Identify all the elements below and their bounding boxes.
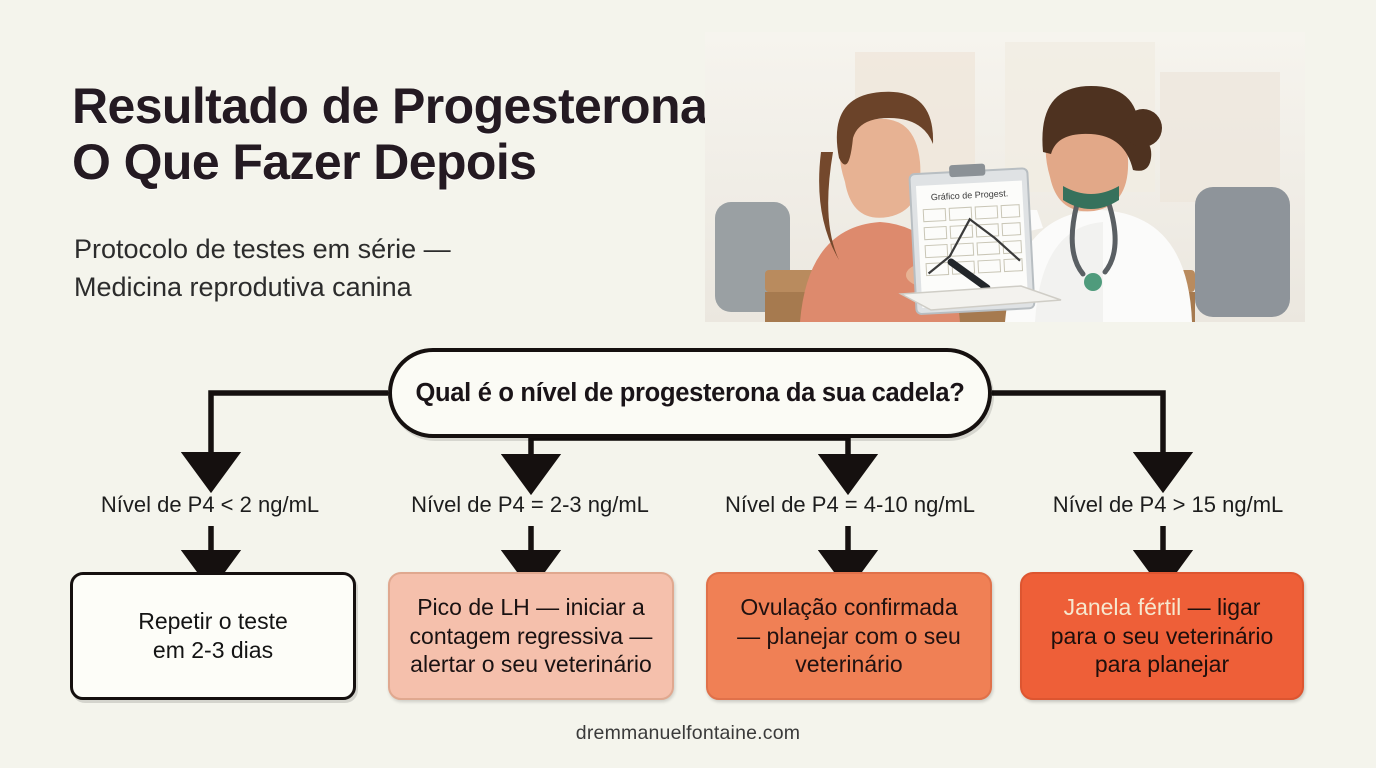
result-3-line-2: para o seu veterinário <box>1051 623 1273 649</box>
result-box-0-text: Repetir o teste em 2-3 dias <box>138 607 288 664</box>
branch-label-3: Nível de P4 > 15 ng/mL <box>1018 492 1318 518</box>
subtitle-line-2: Medicina reprodutiva canina <box>74 268 694 306</box>
result-0-line-1: Repetir o teste <box>138 608 288 634</box>
result-box-3-text: Janela fértil — ligar para o seu veterin… <box>1051 593 1273 679</box>
result-3-line-3: para planejar <box>1095 651 1229 677</box>
consultation-illustration: Gráfico de Progest. <box>705 32 1305 322</box>
result-1-line-1: Pico de LH — iniciar a <box>417 594 645 620</box>
infographic-page: Resultado de Progesterona: O Que Fazer D… <box>0 0 1376 768</box>
result-2-line-2: — planejar com o seu <box>737 623 961 649</box>
result-box-2[interactable]: Ovulação confirmada — planejar com o seu… <box>706 572 992 700</box>
result-box-1[interactable]: Pico de LH — iniciar a contagem regressi… <box>388 572 674 700</box>
result-1-line-3: alertar o seu veterinário <box>410 651 652 677</box>
subtitle-line-1: Protocolo de testes em série — <box>74 234 451 264</box>
decision-question-box[interactable]: Qual é o nível de progesterona da sua ca… <box>388 348 992 438</box>
result-box-3[interactable]: Janela fértil — ligar para o seu veterin… <box>1020 572 1304 700</box>
branch-label-1: Nível de P4 = 2-3 ng/mL <box>380 492 680 518</box>
branch-label-2: Nível de P4 = 4-10 ng/mL <box>700 492 1000 518</box>
result-box-0[interactable]: Repetir o teste em 2-3 dias <box>70 572 356 700</box>
result-3-line-1: — ligar <box>1181 594 1260 620</box>
result-box-1-text: Pico de LH — iniciar a contagem regressi… <box>410 593 653 679</box>
result-1-line-2: contagem regressiva — <box>410 623 653 649</box>
result-2-line-1: Ovulação confirmada <box>740 594 957 620</box>
page-subtitle: Protocolo de testes em série — Medicina … <box>74 230 694 307</box>
result-box-2-text: Ovulação confirmada — planejar com o seu… <box>737 593 961 679</box>
branch-label-0: Nível de P4 < 2 ng/mL <box>60 492 360 518</box>
decision-question-text: Qual é o nível de progesterona da sua ca… <box>415 379 964 408</box>
page-title: Resultado de Progesterona: O Que Fazer D… <box>72 78 772 190</box>
title-line-2: O Que Fazer Depois <box>72 134 772 190</box>
result-0-line-2: em 2-3 dias <box>153 637 273 663</box>
result-3-highlight: Janela fértil <box>1064 594 1182 620</box>
footer-website: dremmanuelfontaine.com <box>0 722 1376 745</box>
title-line-1: Resultado de Progesterona: <box>72 78 723 134</box>
result-2-line-3: veterinário <box>795 651 902 677</box>
